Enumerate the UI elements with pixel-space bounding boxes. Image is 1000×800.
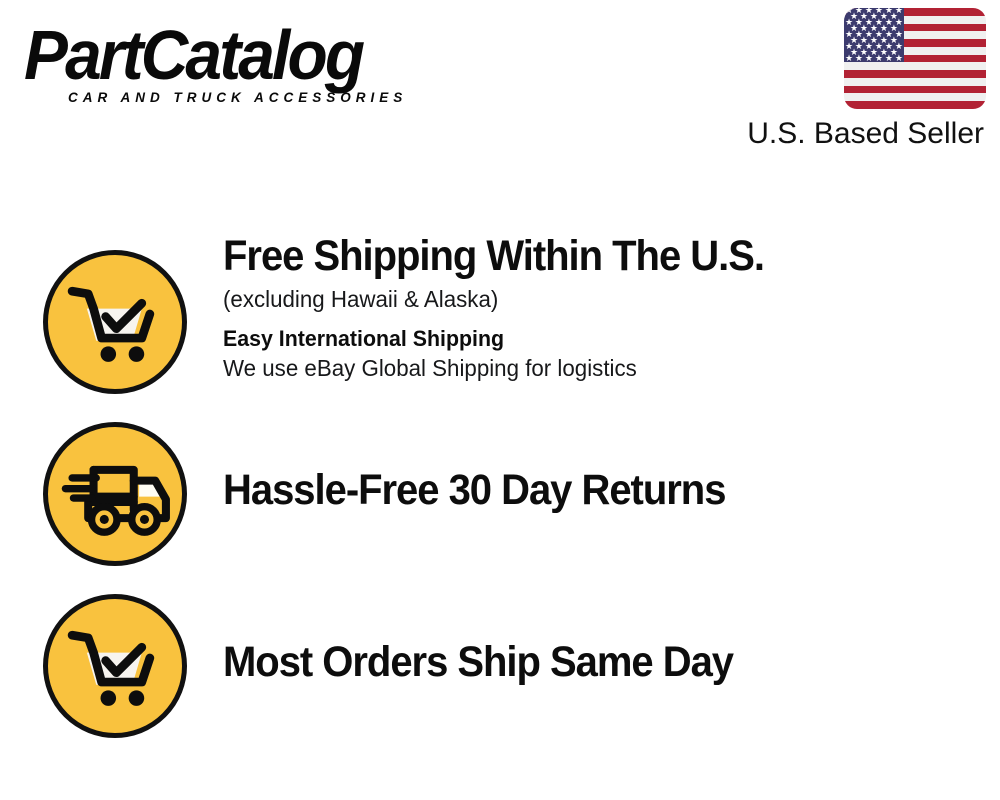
flag-star: ★ [894, 54, 903, 63]
feature-secondary-heading: Easy International Shipping [223, 325, 941, 354]
flag-stripe [844, 93, 986, 101]
brand-logo: PartCatalog CAR AND TRUCK ACCESSORIES [24, 22, 494, 105]
feature-heading: Hassle-Free 30 Day Returns [223, 468, 911, 513]
flag-star: ★ [854, 54, 863, 63]
feature-heading: Free Shipping Within The U.S. [223, 234, 911, 279]
brand-wordmark: PartCatalog [24, 22, 466, 89]
flag-stripe [844, 78, 986, 86]
feature-text-returns: Hassle-Free 30 Day Returns [223, 468, 963, 513]
delivery-truck-icon [43, 422, 187, 566]
flag-stripe [844, 70, 986, 78]
feature-subtext: (excluding Hawaii & Alaska) [223, 285, 941, 315]
flag-star: ★ [844, 54, 853, 63]
flag-star: ★ [874, 54, 883, 63]
flag-star: ★ [884, 54, 893, 63]
flag-stripe [844, 86, 986, 94]
us-based-seller-badge: ★★★★★★★★★★★★★★★★★★★★★★★★★★★★★★★★★★★★★★★★… [726, 8, 986, 151]
flag-star: ★ [864, 54, 873, 63]
feature-text-same-day: Most Orders Ship Same Day [223, 640, 963, 685]
us-based-seller-label: U.S. Based Seller [726, 117, 984, 151]
shopping-cart-check-icon [43, 250, 187, 394]
feature-secondary-subtext: We use eBay Global Shipping for logistic… [223, 354, 941, 384]
flag-canton: ★★★★★★★★★★★★★★★★★★★★★★★★★★★★★★★★★★★★★★★★… [844, 8, 904, 62]
feature-heading: Most Orders Ship Same Day [223, 640, 911, 685]
feature-text-free-shipping: Free Shipping Within The U.S. (excluding… [223, 234, 963, 384]
shopping-cart-check-icon [43, 594, 187, 738]
flag-stripe [844, 62, 986, 70]
flag-stripe [844, 101, 986, 109]
us-flag-icon: ★★★★★★★★★★★★★★★★★★★★★★★★★★★★★★★★★★★★★★★★… [844, 8, 986, 109]
